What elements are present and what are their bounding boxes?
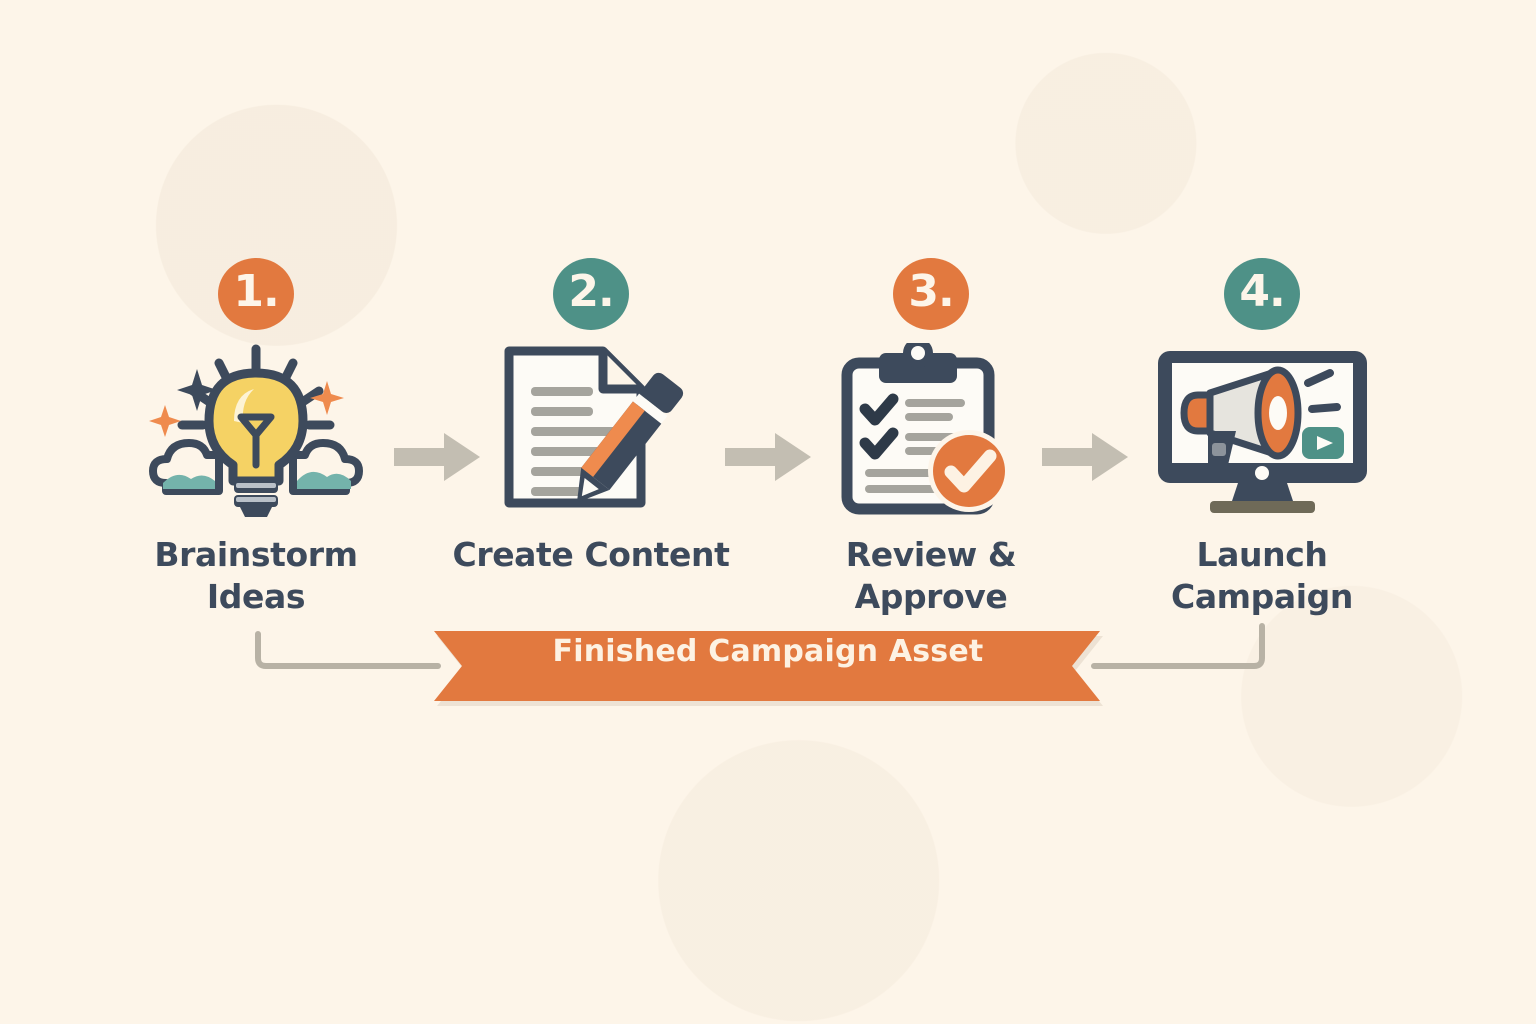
step-1-label: Brainstorm Ideas	[116, 534, 396, 618]
step-2-label: Create Content	[453, 534, 730, 576]
step-3-icon-container	[831, 340, 1031, 520]
step-1-icon-container	[141, 340, 371, 520]
megaphone-grip	[1212, 443, 1226, 456]
diagram-canvas: Finished Campaign Asset 1.	[0, 0, 1536, 1024]
sparkle-orange-right	[310, 381, 344, 415]
step-number-badge-3: 3.	[893, 258, 969, 330]
process-step-1[interactable]: 1.	[106, 258, 406, 618]
step-4-icon-container	[1150, 340, 1375, 520]
step-number-badge-1: 1.	[218, 258, 294, 330]
step-number-badge-2: 2.	[553, 258, 629, 330]
process-steps: 1.	[0, 258, 1536, 648]
process-step-2[interactable]: 2.	[441, 258, 741, 576]
step-4-label: Launch Campaign	[1122, 534, 1402, 618]
clipboard-clip-hole	[911, 346, 925, 360]
step-2-icon-container	[491, 340, 691, 520]
process-step-4[interactable]: 4.	[1112, 258, 1412, 618]
clipboard-checkmark-icon	[831, 343, 1031, 518]
monitor-stand-base	[1210, 501, 1315, 513]
lightbulb-idea-icon	[141, 343, 371, 518]
megaphone-bell-inner	[1269, 396, 1287, 430]
sparkle-orange-left	[149, 405, 181, 437]
step-3-label: Review & Approve	[791, 534, 1071, 618]
monitor-megaphone-icon	[1150, 343, 1375, 518]
document-pencil-icon	[491, 343, 691, 518]
process-step-3[interactable]: 3.	[781, 258, 1081, 618]
step-number-badge-4: 4.	[1224, 258, 1300, 330]
bulb-screw-tip	[240, 507, 272, 517]
document-folded-corner	[603, 351, 641, 389]
monitor-neck	[1232, 483, 1293, 501]
monitor-power-dot	[1255, 466, 1269, 480]
